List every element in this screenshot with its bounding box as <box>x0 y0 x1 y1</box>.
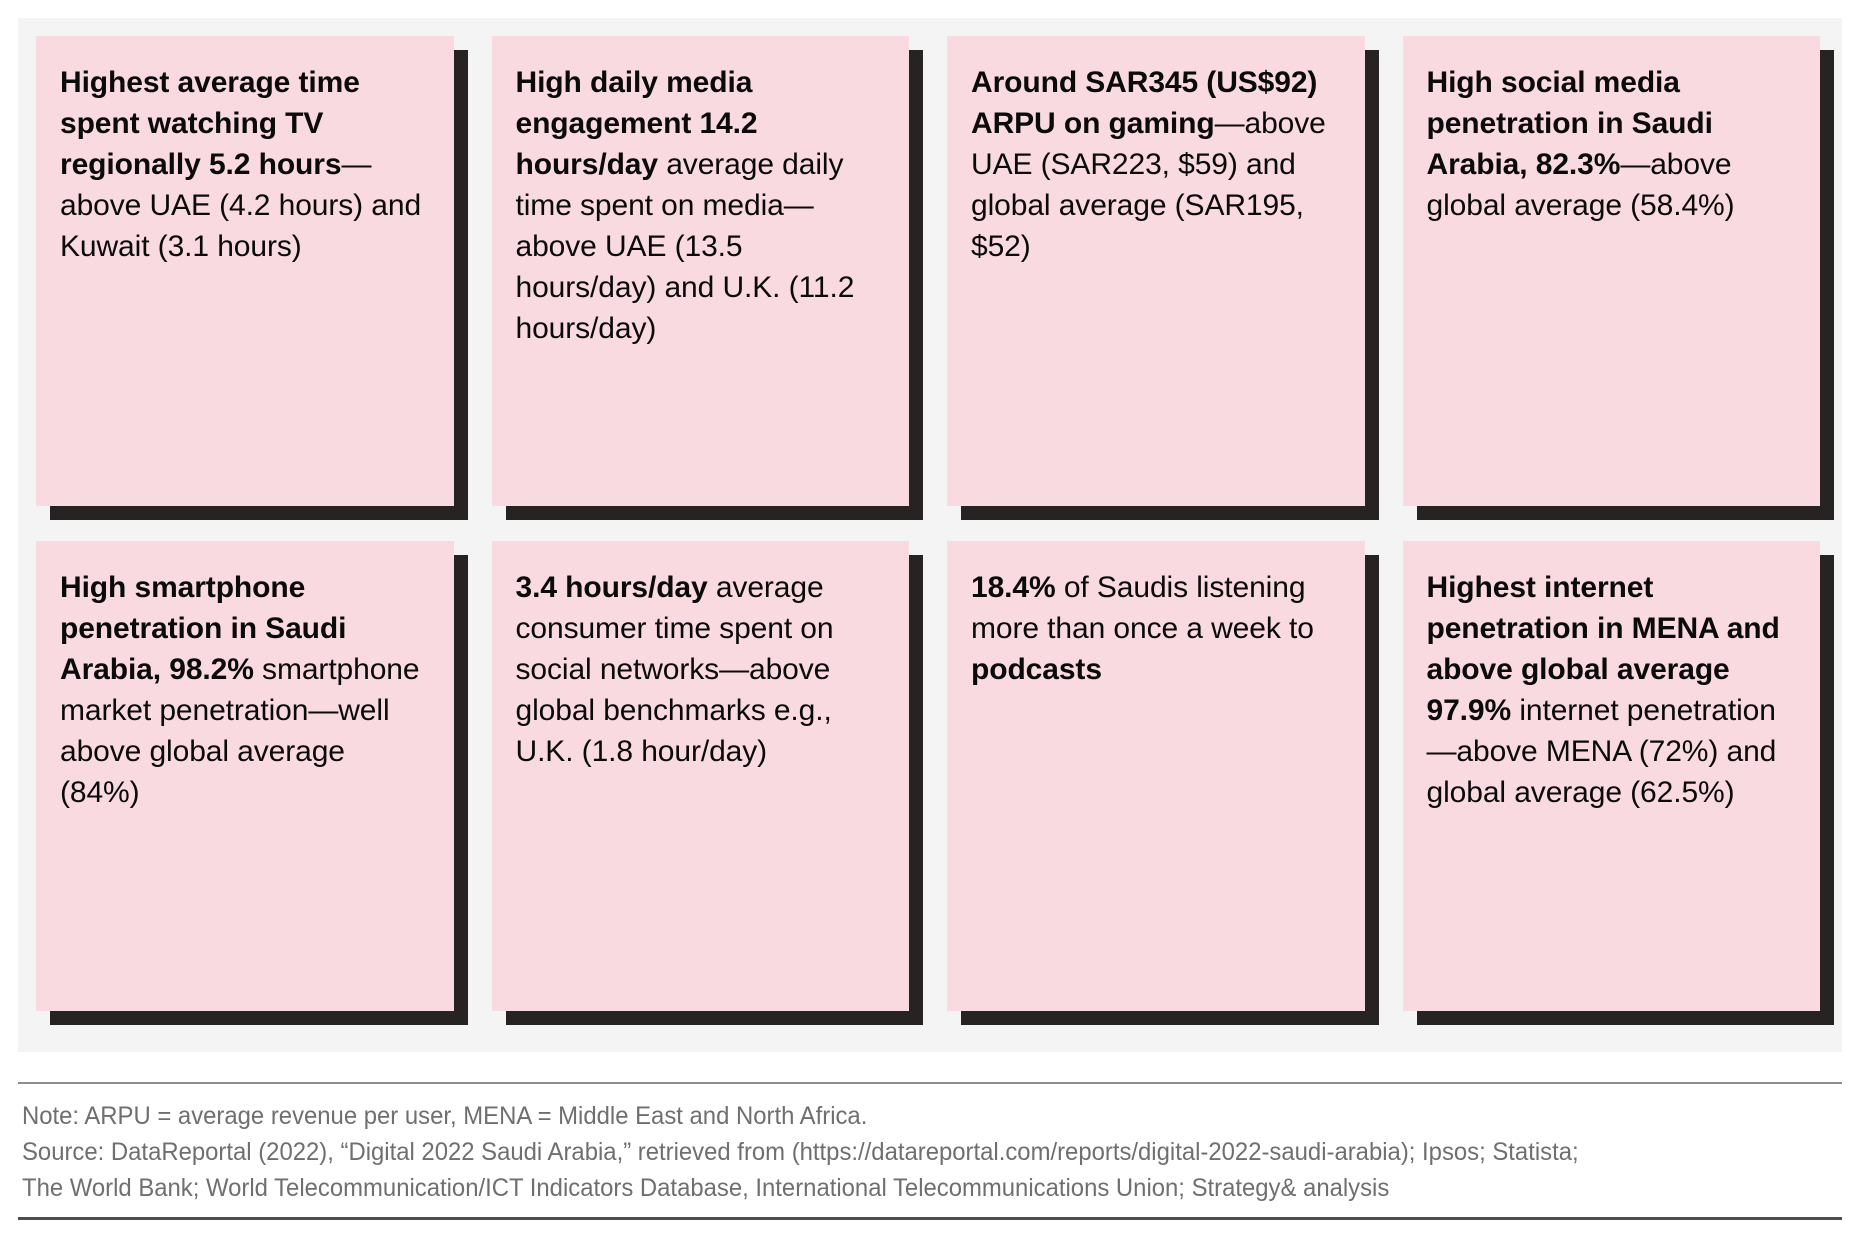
stat-card-podcast-listening: 18.4% of Saudis listening more than once… <box>947 541 1365 1011</box>
stat-card-text: High daily media engagement 14.2 hours/d… <box>516 62 884 349</box>
stat-card-media-engagement: High daily media engagement 14.2 hours/d… <box>492 36 910 506</box>
stat-card-social-networks-time: 3.4 hours/day average consumer time spen… <box>492 541 910 1011</box>
footnote-lines: Note: ARPU = average revenue per user, M… <box>18 1084 1842 1206</box>
infographic-page: Highest average time spent watching TV r… <box>0 0 1860 1260</box>
stat-card-text: 3.4 hours/day average consumer time spen… <box>516 567 884 772</box>
note-text: Note: ARPU = average revenue per user, M… <box>22 1098 1758 1134</box>
stats-card-grid: Highest average time spent watching TV r… <box>36 36 1820 1032</box>
stat-card-social-media-penetration: High social media penetration in Saudi A… <box>1403 36 1821 506</box>
footnote-section: Note: ARPU = average revenue per user, M… <box>18 1082 1842 1220</box>
stats-card-panel: Highest average time spent watching TV r… <box>18 18 1842 1052</box>
source-text-line-2: The World Bank; World Telecommunication/… <box>22 1170 1758 1206</box>
source-text-line-1: Source: DataReportal (2022), “Digital 20… <box>22 1134 1758 1170</box>
stat-card-text: Around SAR345 (US$92) ARPU on gaming—abo… <box>971 62 1339 267</box>
stat-card-text: High smartphone penetration in Saudi Ara… <box>60 567 428 813</box>
stat-card-tv-time: Highest average time spent watching TV r… <box>36 36 454 506</box>
stat-card-text: High social media penetration in Saudi A… <box>1427 62 1795 226</box>
stat-card-text: Highest internet penetration in MENA and… <box>1427 567 1795 813</box>
stat-card-text: 18.4% of Saudis listening more than once… <box>971 567 1339 690</box>
stat-card-smartphone-penetration: High smartphone penetration in Saudi Ara… <box>36 541 454 1011</box>
stat-card-gaming-arpu: Around SAR345 (US$92) ARPU on gaming—abo… <box>947 36 1365 506</box>
stat-card-internet-penetration: Highest internet penetration in MENA and… <box>1403 541 1821 1011</box>
footnote-bottom-rule <box>18 1217 1842 1220</box>
stat-card-text: Highest average time spent watching TV r… <box>60 62 428 267</box>
